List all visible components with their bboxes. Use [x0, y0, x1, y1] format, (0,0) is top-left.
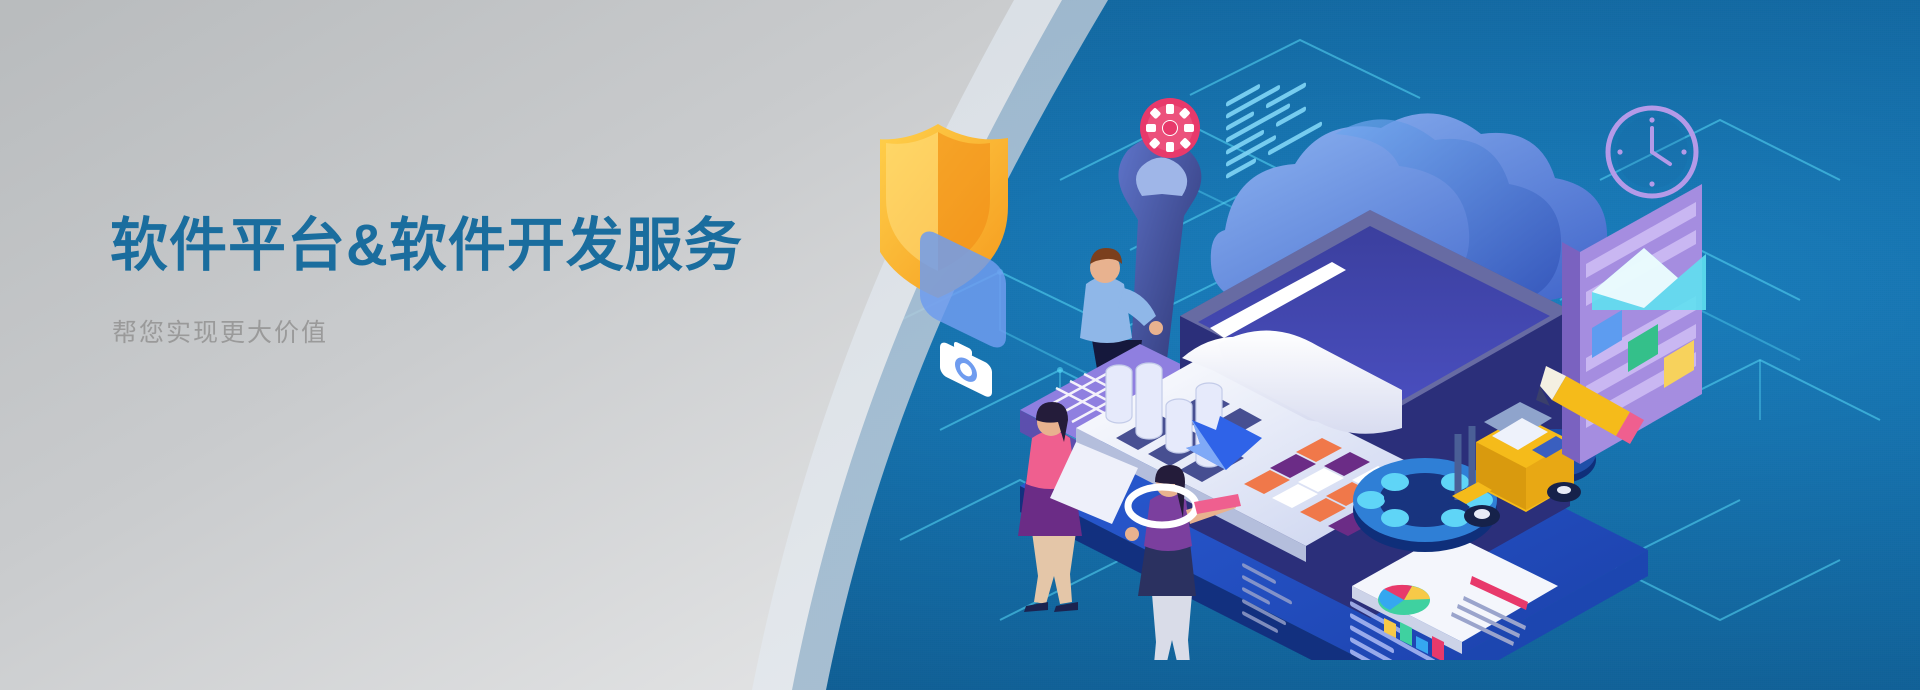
- hero-copy: 软件平台&软件开发服务 帮您实现更大价值: [110, 214, 750, 349]
- isometric-illustration: [880, 40, 1920, 660]
- page-subtitle: 帮您实现更大价值: [112, 317, 750, 350]
- gear-badge-icon: [1140, 98, 1200, 158]
- hero-banner: 软件平台&软件开发服务 帮您实现更大价值: [0, 0, 1920, 690]
- page-title: 软件平台&软件开发服务: [110, 214, 750, 279]
- clock-icon: [1608, 108, 1696, 196]
